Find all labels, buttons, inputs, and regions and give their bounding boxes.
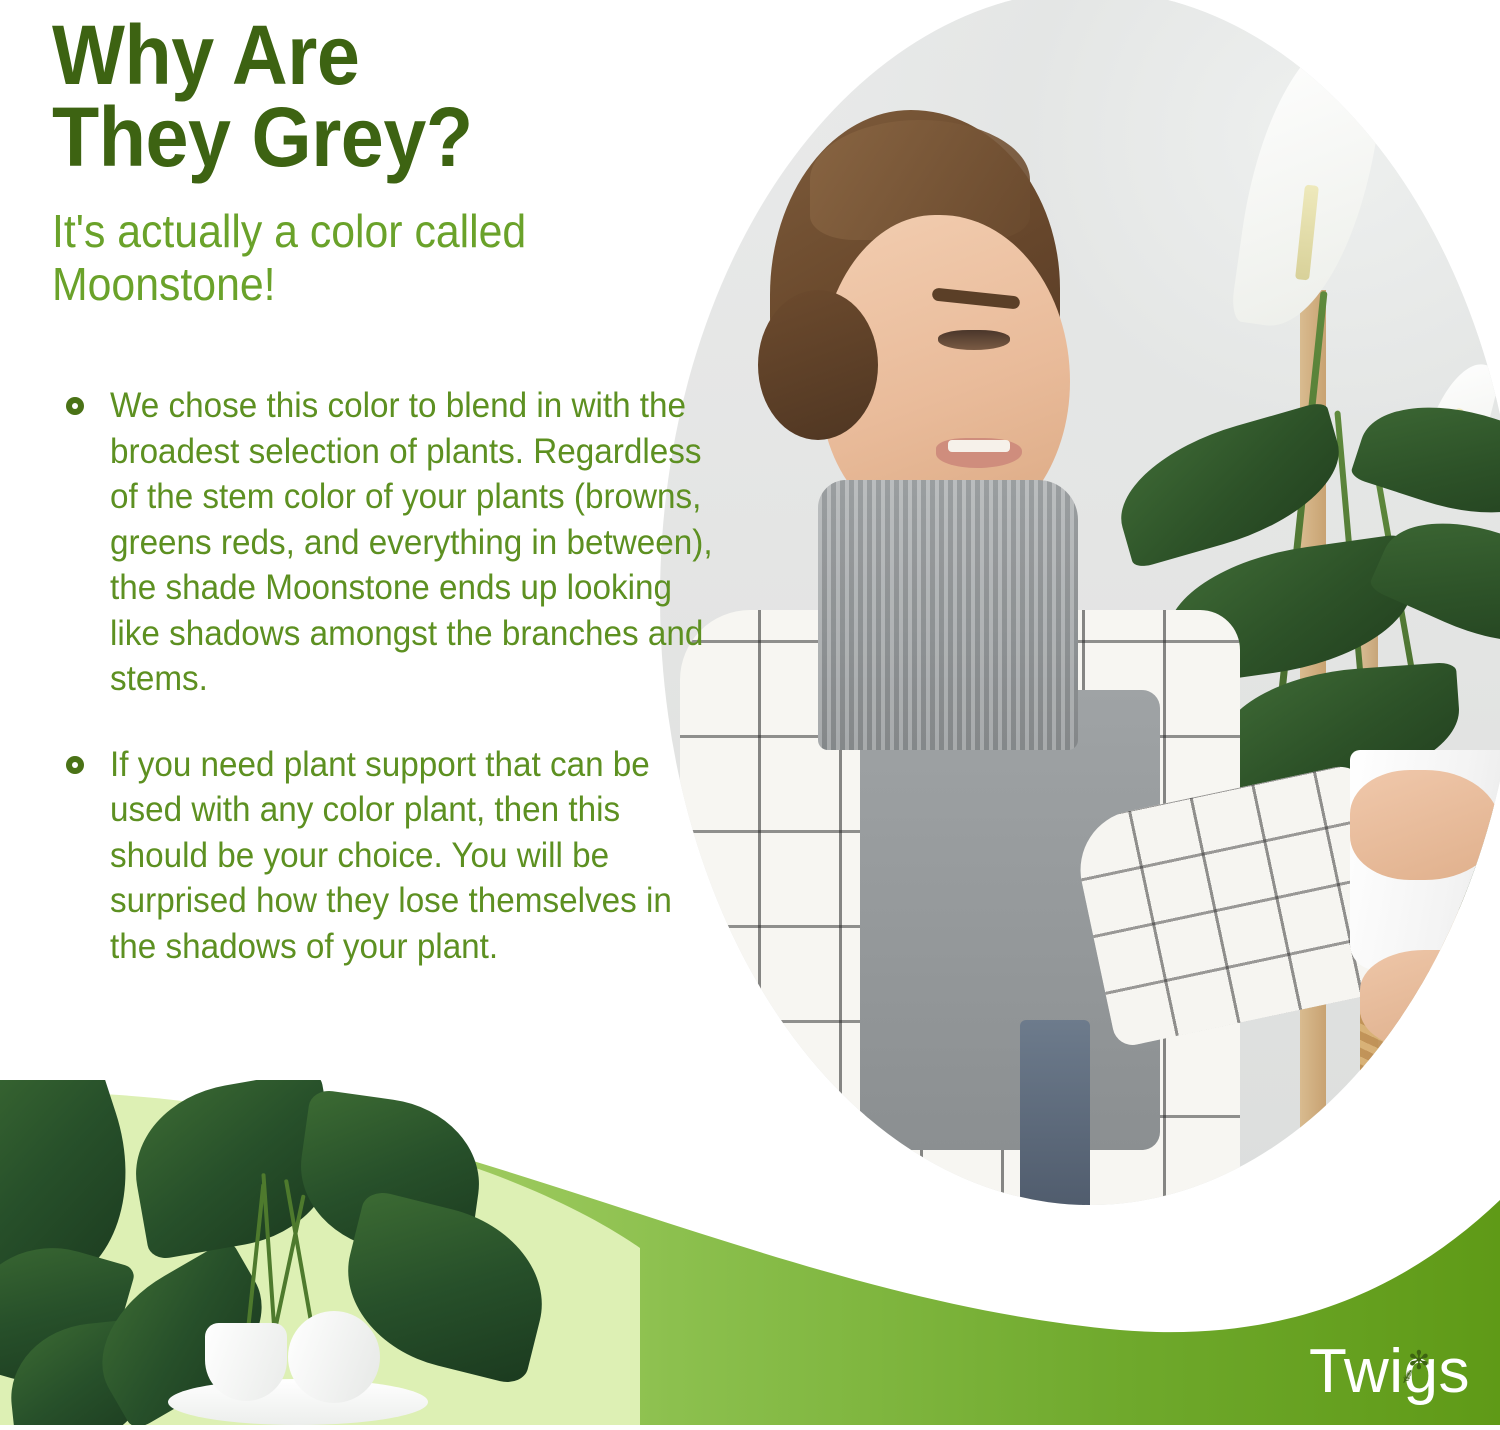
grey-turtleneck-collar (818, 480, 1078, 750)
list-item: We chose this color to blend in with the… (52, 383, 752, 702)
white-pot-round (288, 1311, 380, 1403)
palm-frond (1420, 64, 1500, 216)
list-item: If you need plant support that can be us… (52, 742, 752, 970)
teeth (948, 440, 1010, 452)
list-item-text: We chose this color to blend in with the… (110, 383, 718, 702)
content-column: Why Are They Grey? It's actually a color… (52, 14, 752, 1009)
page-subtitle: It's actually a color called Moonstone! (52, 205, 703, 312)
sprig-icon: ⸙ (1399, 1365, 1416, 1387)
peace-lily-flower (1230, 23, 1391, 337)
sprig-glyph: ⸙ (1399, 1363, 1416, 1388)
hand-upper (1350, 770, 1500, 880)
collar-ribbing (818, 480, 1078, 750)
eye (938, 330, 1010, 350)
hero-photo-image (660, 0, 1500, 1205)
decorative-leaf-panel (0, 1080, 640, 1425)
ring-bullet-icon (66, 397, 84, 415)
hero-photo (660, 0, 1500, 1205)
brand-logo[interactable]: Twigs (1309, 1336, 1470, 1407)
hair-bun (758, 290, 878, 440)
page-title: Why Are They Grey? (52, 14, 696, 179)
benefits-list: We chose this color to blend in with the… (52, 383, 752, 969)
ring-bullet-icon (66, 756, 84, 774)
hand-lower (1360, 950, 1500, 1050)
list-item-text: If you need plant support that can be us… (110, 742, 718, 970)
